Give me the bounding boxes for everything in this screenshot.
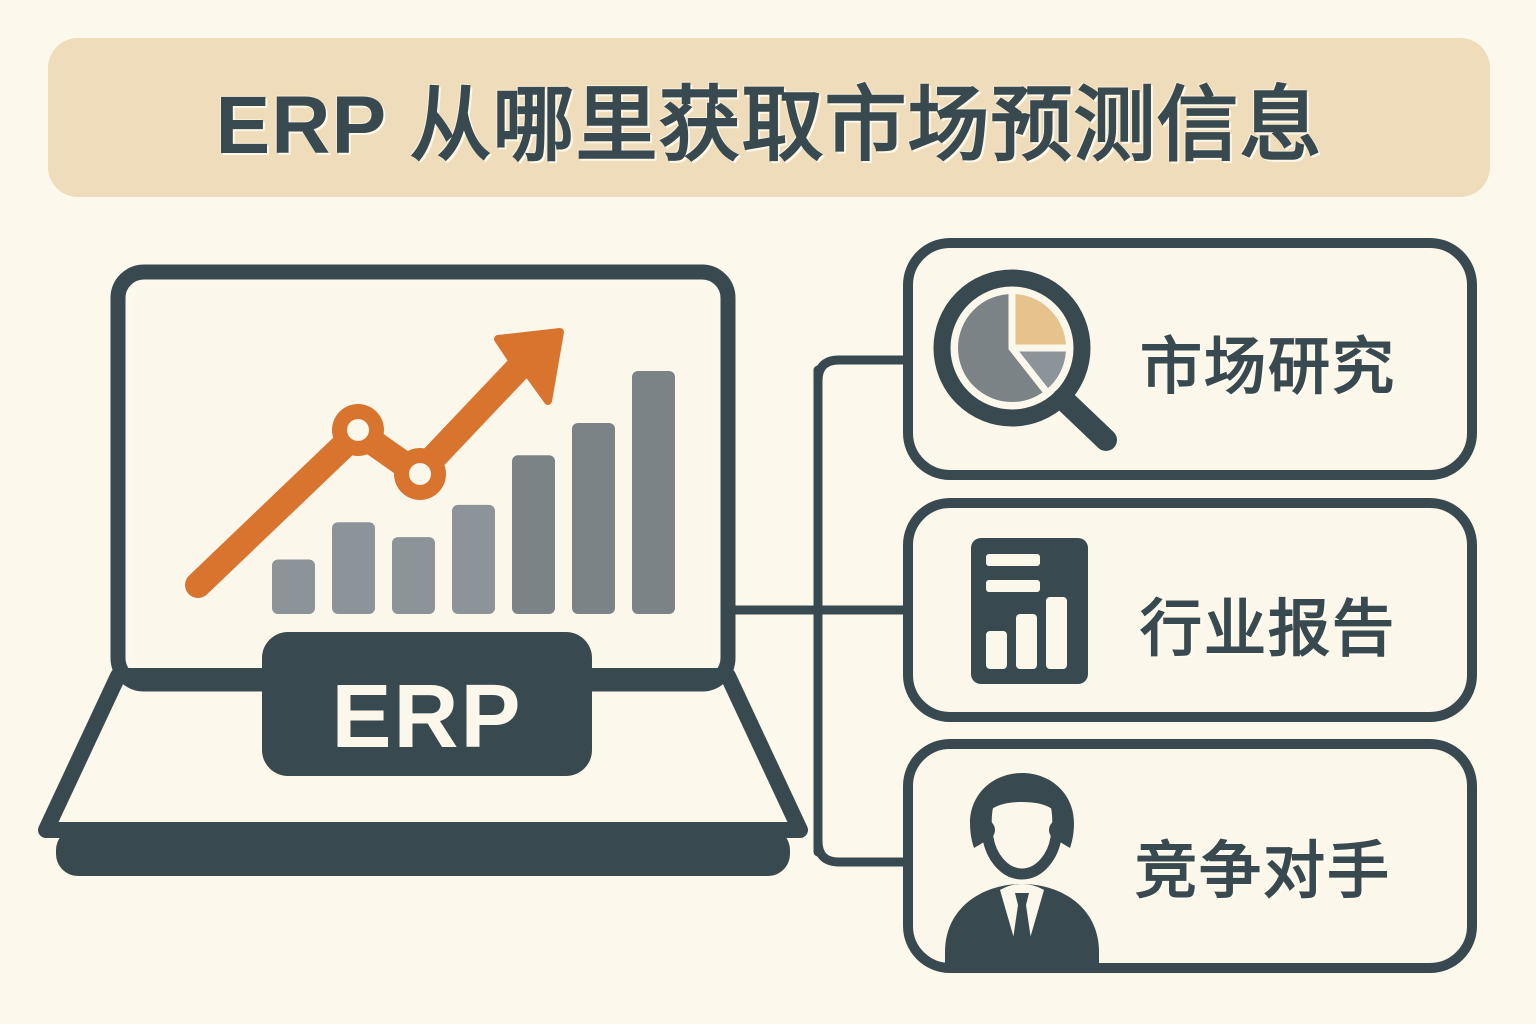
bar-7 — [632, 371, 675, 614]
trend-node-marker-1-hole — [347, 419, 369, 441]
connector-lines — [728, 360, 908, 862]
trend-node-marker-2-hole — [409, 463, 431, 485]
bar-2 — [332, 522, 375, 614]
connector-branch-card-1 — [818, 360, 908, 381]
erp-badge-label: ERP — [262, 655, 592, 780]
laptop-base-bottom-bar — [56, 828, 790, 876]
infographic-canvas: ERP 从哪里获取市场预测信息 — [0, 0, 1536, 1024]
bar-1 — [272, 559, 315, 614]
card-competitors-hit[interactable] — [908, 744, 1472, 968]
card-industry-report-hit[interactable] — [908, 503, 1472, 717]
bar-5 — [512, 455, 555, 614]
card-market-research-hit[interactable] — [908, 243, 1472, 475]
connector-branch-card-3 — [818, 841, 908, 862]
erp-laptop[interactable] — [46, 272, 800, 876]
bar-6 — [572, 423, 615, 614]
bar-3 — [392, 537, 435, 614]
bar-4 — [452, 505, 495, 614]
